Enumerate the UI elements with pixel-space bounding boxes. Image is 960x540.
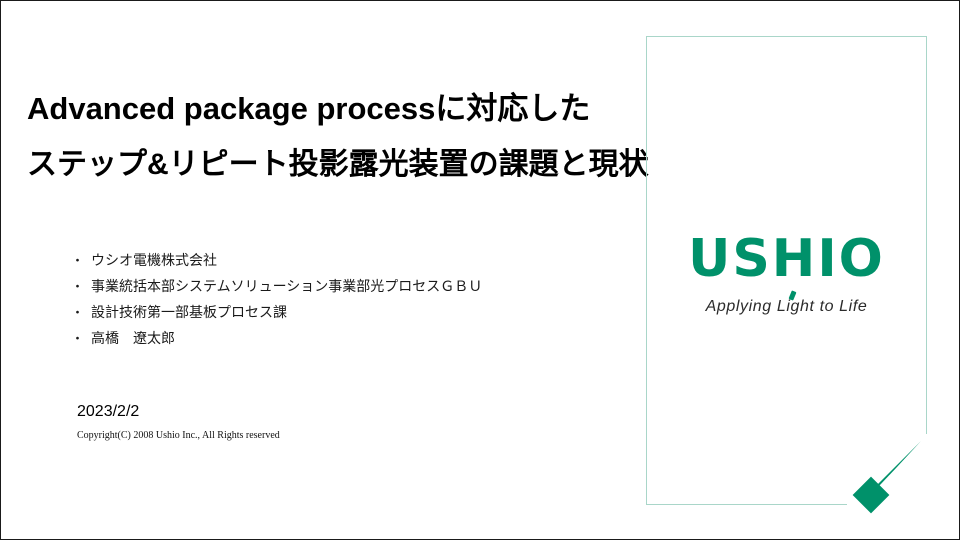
list-item: ・ 事業統括本部システムソリューション事業部光プロセスＧＢＵ: [71, 279, 591, 293]
slide-title: Advanced package processに対応した ステップ&リピート投…: [27, 93, 627, 180]
ushio-tagline: Applying Light to Life: [706, 298, 868, 315]
bullet-marker-icon: ・: [71, 332, 91, 345]
bullet-marker-icon: ・: [71, 280, 91, 293]
title-line-2: ステップ&リピート投影露光装置の課題と現状: [27, 150, 627, 180]
bullet-marker-icon: ・: [71, 254, 91, 267]
slide-date: 2023/2/2: [77, 404, 139, 420]
list-item-label: 設計技術第一部基板プロセス課: [91, 305, 591, 319]
affiliation-bullet-list: ・ ウシオ電機株式会社 ・ 事業統括本部システムソリューション事業部光プロセスＧ…: [71, 253, 591, 357]
list-item: ・ ウシオ電機株式会社: [71, 253, 591, 267]
list-item-label: 事業統括本部システムソリューション事業部光プロセスＧＢＵ: [91, 279, 591, 293]
list-item-label: 高橋 遼太郎: [91, 331, 591, 345]
ushio-wordmark: USHIO: [646, 233, 927, 285]
ushio-logo: USHIO Applying Light to Life: [646, 233, 927, 316]
list-item-label: ウシオ電機株式会社: [91, 253, 591, 267]
copyright-notice: Copyright(C) 2008 Ushio Inc., All Rights…: [77, 431, 280, 441]
ushio-tagline-wrapper: Applying Light to Life: [706, 299, 868, 315]
list-item: ・ 設計技術第一部基板プロセス課: [71, 305, 591, 319]
bullet-marker-icon: ・: [71, 306, 91, 319]
presentation-title-slide: Advanced package processに対応した ステップ&リピート投…: [0, 0, 960, 540]
title-line-1: Advanced package processに対応した: [27, 93, 627, 124]
list-item: ・ 高橋 遼太郎: [71, 331, 591, 345]
